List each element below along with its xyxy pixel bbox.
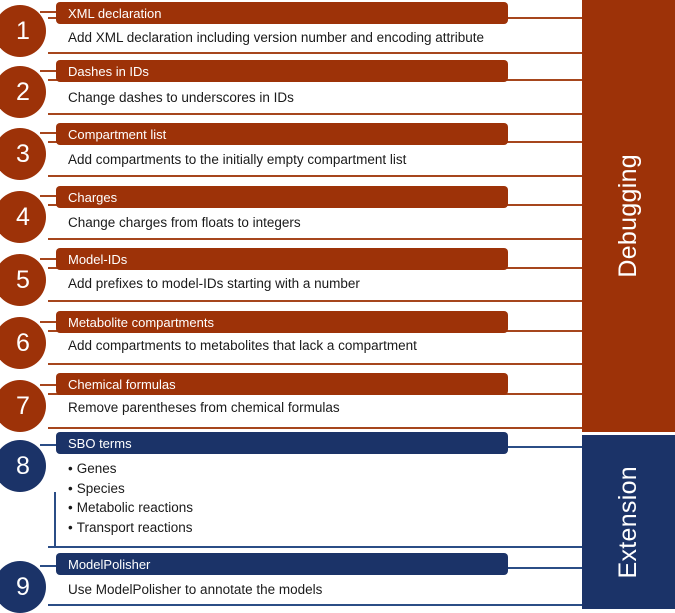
step-bullet-list: Genes Species Metabolic reactions Transp… bbox=[68, 459, 193, 537]
connector-tail bbox=[508, 141, 582, 143]
list-item: Transport reactions bbox=[68, 518, 193, 538]
connector-tail bbox=[508, 393, 582, 395]
row-separator bbox=[48, 52, 582, 54]
step-title-bar: Model-IDs bbox=[56, 248, 508, 270]
step-title-bar: Metabolite compartments bbox=[56, 311, 508, 333]
step-title-bar: Compartment list bbox=[56, 123, 508, 145]
step-number-badge: 8 bbox=[0, 440, 46, 492]
workflow-diagram: Debugging Extension 1 XML declaration Ad… bbox=[0, 0, 675, 609]
row-separator bbox=[48, 546, 582, 548]
list-item: Species bbox=[68, 479, 193, 499]
step-description: Add compartments to metabolites that lac… bbox=[68, 338, 417, 353]
row-separator bbox=[48, 604, 582, 606]
phase-panel-debugging: Debugging bbox=[582, 0, 675, 432]
connector-tail bbox=[508, 267, 582, 269]
step-description: Change dashes to underscores in IDs bbox=[68, 90, 294, 105]
step-description: Add compartments to the initially empty … bbox=[68, 152, 406, 167]
phase-panel-extension: Extension bbox=[582, 435, 675, 609]
step-title-bar: Chemical formulas bbox=[56, 373, 508, 395]
connector-tail bbox=[508, 79, 582, 81]
phase-label-debugging: Debugging bbox=[614, 154, 643, 278]
step-number-badge: 4 bbox=[0, 191, 46, 243]
step-description: Change charges from floats to integers bbox=[68, 215, 301, 230]
connector-vertical bbox=[54, 492, 56, 546]
row-separator bbox=[48, 300, 582, 302]
step-number-badge: 9 bbox=[0, 561, 46, 613]
row-separator bbox=[48, 175, 582, 177]
connector-tail bbox=[508, 204, 582, 206]
step-number-badge: 3 bbox=[0, 128, 46, 180]
row-separator bbox=[48, 113, 582, 115]
list-item: Genes bbox=[68, 459, 193, 479]
step-title-bar: XML declaration bbox=[56, 2, 508, 24]
step-number-badge: 7 bbox=[0, 380, 46, 432]
list-item: Metabolic reactions bbox=[68, 498, 193, 518]
step-number-badge: 2 bbox=[0, 66, 46, 118]
step-number-badge: 6 bbox=[0, 317, 46, 369]
connector-tail bbox=[508, 17, 582, 19]
connector-tail bbox=[508, 567, 582, 569]
step-title-bar: SBO terms bbox=[56, 432, 508, 454]
connector-tail bbox=[508, 330, 582, 332]
row-separator bbox=[48, 427, 582, 429]
step-title-bar: Dashes in IDs bbox=[56, 60, 508, 82]
step-description: Remove parentheses from chemical formula… bbox=[68, 400, 340, 415]
step-description: Add XML declaration including version nu… bbox=[68, 30, 484, 45]
row-separator bbox=[48, 238, 582, 240]
step-title-bar: Charges bbox=[56, 186, 508, 208]
row-separator bbox=[48, 363, 582, 365]
step-description: Use ModelPolisher to annotate the models bbox=[68, 582, 322, 597]
step-number-badge: 5 bbox=[0, 254, 46, 306]
connector-tail bbox=[508, 446, 582, 448]
step-description: Add prefixes to model-IDs starting with … bbox=[68, 276, 360, 291]
step-title-bar: ModelPolisher bbox=[56, 553, 508, 575]
phase-label-extension: Extension bbox=[614, 466, 643, 579]
